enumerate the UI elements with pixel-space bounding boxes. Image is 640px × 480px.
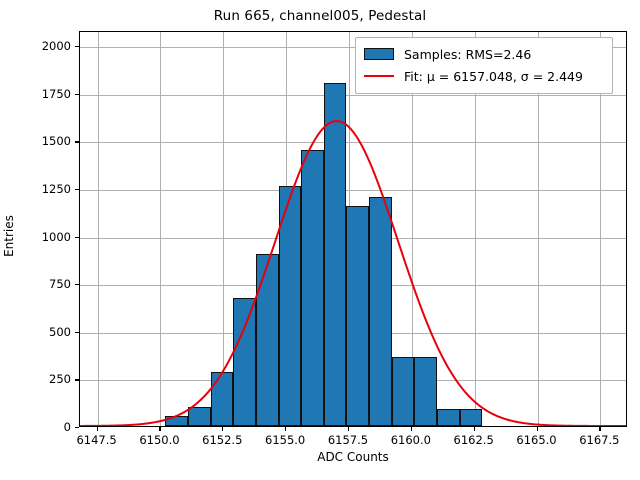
- x-tick-mark: [159, 427, 160, 431]
- y-tick-mark: [75, 141, 79, 142]
- x-tick-mark: [411, 427, 412, 431]
- y-tick-mark: [75, 94, 79, 95]
- x-tick-mark: [348, 427, 349, 431]
- y-tick-mark: [75, 46, 79, 47]
- legend-label-fit: Fit: μ = 6157.048, σ = 2.449: [404, 69, 583, 84]
- y-tick-mark: [75, 427, 79, 428]
- x-tick-label: 6155.0: [265, 433, 305, 447]
- x-tick-label: 6150.0: [139, 433, 179, 447]
- x-tick-mark: [285, 427, 286, 431]
- y-tick-mark: [75, 332, 79, 333]
- x-tick-label: 6165.0: [516, 433, 556, 447]
- legend-patch-icon: [364, 48, 394, 60]
- y-tick-label: 1250: [42, 182, 71, 196]
- y-tick-label: 1000: [42, 230, 71, 244]
- x-tick-label: 6157.5: [328, 433, 368, 447]
- x-tick-label: 6147.5: [76, 433, 116, 447]
- legend: Samples: RMS=2.46 Fit: μ = 6157.048, σ =…: [355, 37, 613, 94]
- fit-path: [80, 121, 626, 426]
- x-axis-label: ADC Counts: [79, 450, 627, 464]
- y-axis-label: Entries: [2, 215, 16, 257]
- chart-title: Run 665, channel005, Pedestal: [0, 8, 640, 24]
- x-tick-mark: [537, 427, 538, 431]
- y-tick-mark: [75, 284, 79, 285]
- y-tick-label: 2000: [42, 39, 71, 53]
- y-tick-mark: [75, 237, 79, 238]
- legend-item-samples: Samples: RMS=2.46: [364, 43, 604, 65]
- y-tick-label: 250: [49, 372, 71, 386]
- legend-line-icon: [364, 70, 394, 82]
- y-tick-label: 1500: [42, 134, 71, 148]
- y-tick-label: 750: [49, 277, 71, 291]
- y-tick-label: 500: [49, 325, 71, 339]
- legend-label-samples: Samples: RMS=2.46: [404, 47, 531, 62]
- y-tick-label: 0: [64, 420, 71, 434]
- x-tick-label: 6160.0: [391, 433, 431, 447]
- legend-item-fit: Fit: μ = 6157.048, σ = 2.449: [364, 65, 604, 87]
- y-tick-label: 1750: [42, 87, 71, 101]
- x-tick-mark: [222, 427, 223, 431]
- y-tick-mark: [75, 379, 79, 380]
- figure-canvas: Run 665, channel005, Pedestal 6147.56150…: [0, 0, 640, 480]
- y-tick-mark: [75, 189, 79, 190]
- x-tick-label: 6162.5: [454, 433, 494, 447]
- x-tick-mark: [474, 427, 475, 431]
- x-tick-label: 6152.5: [202, 433, 242, 447]
- x-tick-mark: [599, 427, 600, 431]
- x-tick-label: 6167.5: [579, 433, 619, 447]
- x-tick-mark: [97, 427, 98, 431]
